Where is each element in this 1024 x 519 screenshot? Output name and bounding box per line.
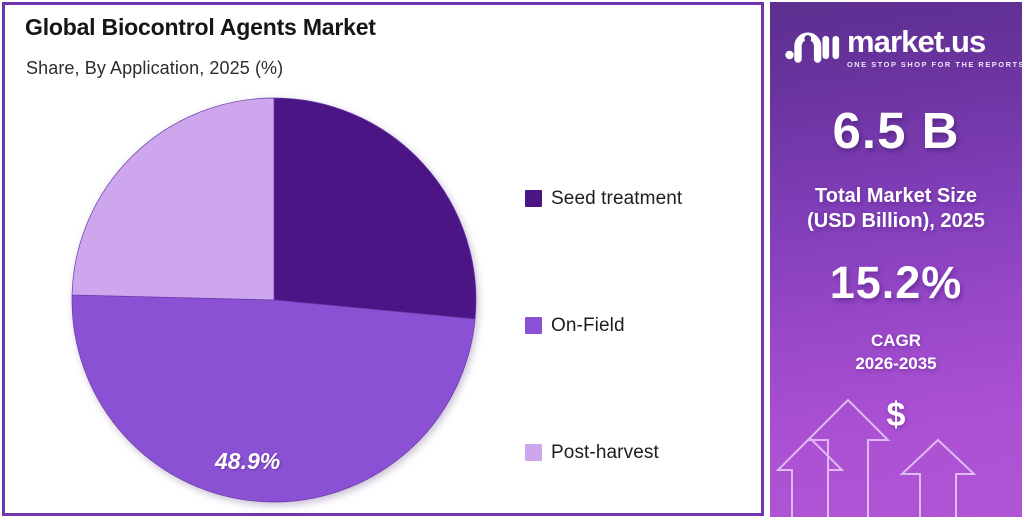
infographic-root: Global Biocontrol Agents Market Share, B…: [0, 0, 1024, 519]
legend-item-seed-treatment[interactable]: Seed treatment: [525, 135, 745, 262]
legend-swatch-icon: [525, 190, 542, 207]
market-size-caption: Total Market Size (USD Billion), 2025: [770, 184, 1022, 234]
cagr-caption: CAGR 2026-2035: [770, 329, 1022, 375]
pie-slice[interactable]: [274, 98, 476, 319]
legend-swatch-icon: [525, 317, 542, 334]
legend-item-post-harvest[interactable]: Post-harvest: [525, 389, 745, 516]
chart-subtitle: Share, By Application, 2025 (%): [26, 58, 283, 79]
chart-legend: Seed treatment On-Field Post-harvest: [525, 135, 745, 516]
market-size-value: 6.5 B: [770, 101, 1022, 160]
legend-label: Post-harvest: [551, 442, 659, 464]
market-size-caption-line2: (USD Billion), 2025: [770, 209, 1022, 234]
brand-stats-panel: market.us ONE STOP SHOP FOR THE REPORTS …: [770, 2, 1022, 517]
legend-swatch-icon: [525, 444, 542, 461]
market-us-logo-icon: [784, 24, 840, 68]
legend-label: On-Field: [551, 315, 625, 337]
cagr-caption-line1: CAGR: [770, 329, 1022, 352]
legend-label: Seed treatment: [551, 188, 682, 210]
legend-item-on-field[interactable]: On-Field: [525, 262, 745, 389]
cagr-caption-line2: 2026-2035: [770, 352, 1022, 375]
chart-card: Global Biocontrol Agents Market Share, B…: [2, 2, 764, 516]
brand-logo-text: market.us ONE STOP SHOP FOR THE REPORTS: [847, 24, 1022, 69]
pie-slice[interactable]: [72, 295, 475, 502]
growth-arrows-icon: [770, 382, 1022, 517]
cagr-value: 15.2%: [770, 257, 1022, 309]
pie-chart: 48.9%: [67, 93, 481, 507]
market-size-caption-line1: Total Market Size: [770, 184, 1022, 209]
page-title: Global Biocontrol Agents Market: [25, 14, 376, 41]
pie-slice[interactable]: [72, 98, 274, 300]
brand-tagline: ONE STOP SHOP FOR THE REPORTS: [847, 60, 1022, 69]
pie-chart-svg: [67, 93, 481, 507]
brand-logo[interactable]: market.us ONE STOP SHOP FOR THE REPORTS: [784, 24, 1022, 69]
brand-wordmark: market.us: [847, 26, 1022, 57]
